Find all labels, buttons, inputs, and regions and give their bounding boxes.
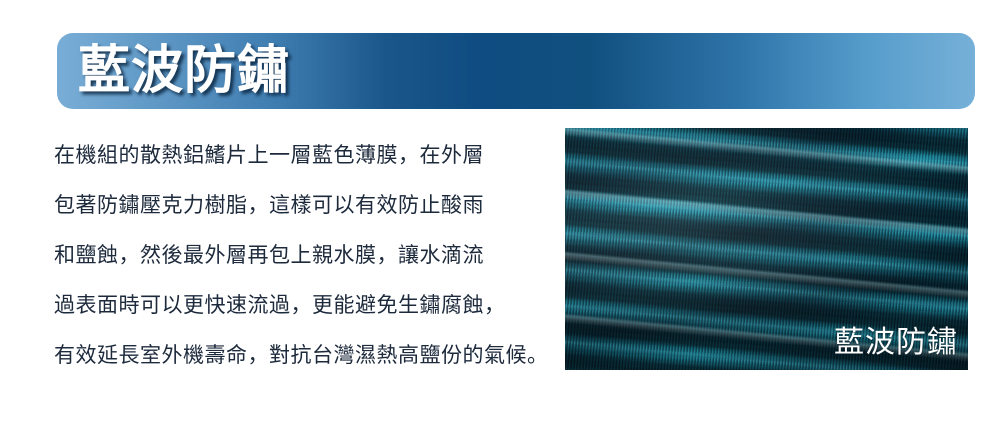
product-photo: 藍波防鏽	[565, 128, 968, 370]
page-title: 藍波防鏽	[78, 45, 290, 97]
header-banner: 藍波防鏽	[57, 33, 975, 109]
description-line: 過表面時可以更快速流過，更能避免生鏽腐蝕，	[54, 281, 549, 331]
description-line: 有效延長室外機壽命，對抗台灣濕熱高鹽份的氣候。	[54, 331, 549, 381]
description-line: 包著防鏽壓克力樹脂，這樣可以有效防止酸雨	[54, 181, 549, 231]
description-paragraph: 在機組的散熱鋁鰭片上一層藍色薄膜，在外層 包著防鏽壓克力樹脂，這樣可以有效防止酸…	[54, 131, 549, 381]
description-line: 在機組的散熱鋁鰭片上一層藍色薄膜，在外層	[54, 131, 549, 181]
description-line: 和鹽蝕，然後最外層再包上親水膜，讓水滴流	[54, 231, 549, 281]
photo-caption: 藍波防鏽	[834, 328, 958, 358]
